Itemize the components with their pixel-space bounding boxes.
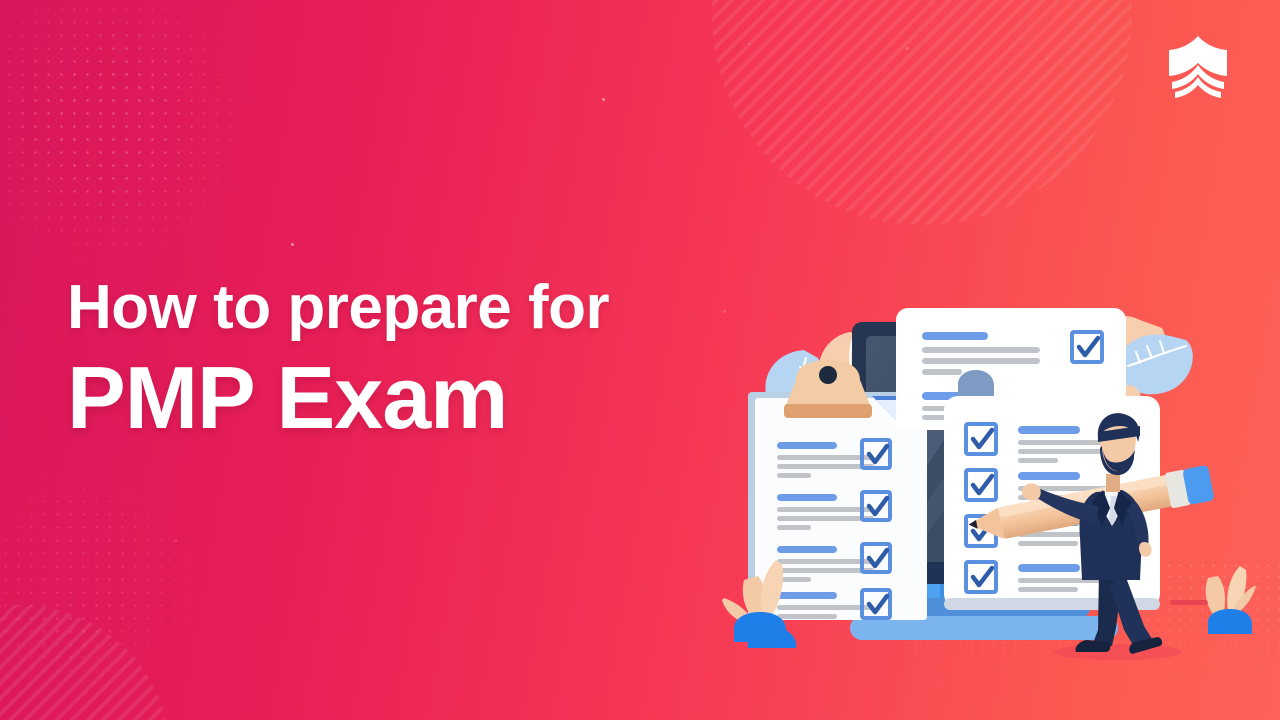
speck	[291, 243, 294, 246]
dot-grid-top-left	[0, 0, 320, 320]
dot-grid-left-lower	[0, 430, 260, 720]
headline-line-2: PMP Exam	[67, 353, 747, 443]
headline-line-1: How to prepare for	[67, 276, 747, 339]
striped-circle-bottom-left-icon	[0, 605, 170, 720]
speck	[175, 540, 177, 542]
striped-circle-top-right-icon	[712, 0, 1132, 225]
banner-canvas: How to prepare for PMP Exam	[0, 0, 1280, 720]
page-title: How to prepare for PMP Exam	[67, 276, 747, 443]
open-book-logo-icon[interactable]	[1161, 32, 1235, 102]
speck	[1046, 58, 1048, 60]
speck	[602, 98, 605, 101]
speck	[906, 47, 909, 50]
plant-bottom-right-icon	[1170, 566, 1256, 634]
exam-checklist-illustration	[700, 280, 1280, 700]
speck	[748, 43, 750, 45]
